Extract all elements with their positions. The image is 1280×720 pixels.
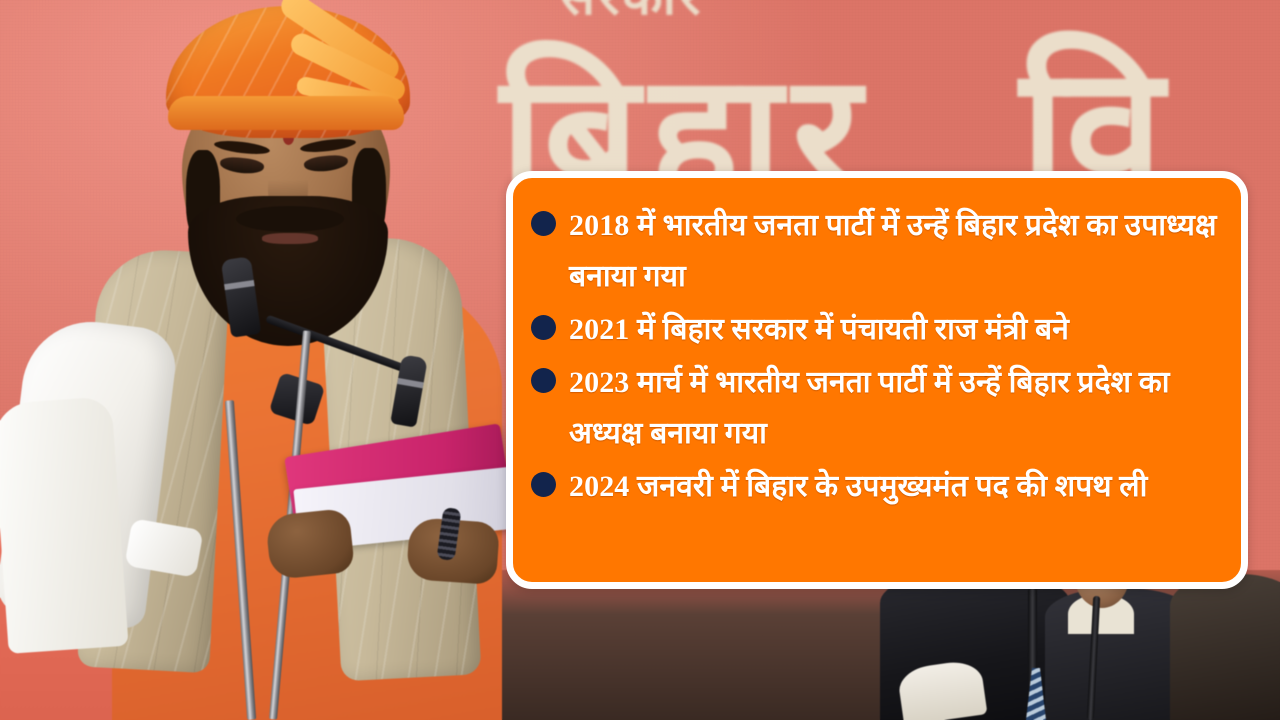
bullet-dot-icon [531, 211, 556, 236]
bullet-text-2021: 2021 में बिहार सरकार में पंचायती राज मंत… [569, 304, 1069, 355]
infographic-screenshot: सरकार बिहार वि [0, 0, 1280, 720]
bullet-text-2024: 2024 जनवरी में बिहार के उपमुख्यमंत पद की… [569, 461, 1148, 512]
list-item: 2018 में भारतीय जनता पार्टी में उन्हें ब… [531, 200, 1225, 302]
main-subject-figure [0, 0, 560, 720]
bullet-dot-icon [531, 315, 556, 340]
subject-hand-left [265, 508, 355, 580]
microphone-ring-2 [397, 378, 424, 388]
microphone-ring-1 [224, 280, 255, 290]
subject-lower-lip [262, 233, 318, 244]
bullet-points-panel: 2018 में भारतीय जनता पार्टी में उन्हें ब… [506, 171, 1248, 589]
bullet-list: 2018 में भारतीय जनता पार्टी में उन्हें ब… [513, 178, 1241, 512]
bullet-text-2023: 2023 मार्च में भारतीय जनता पार्टी में उन… [569, 357, 1225, 459]
banner-word-top: सरकार [560, 0, 704, 21]
bullet-text-2018: 2018 में भारतीय जनता पार्टी में उन्हें ब… [569, 200, 1225, 302]
list-item: 2024 जनवरी में बिहार के उपमुख्यमंत पद की… [531, 461, 1225, 512]
bullet-dot-icon [531, 368, 556, 393]
subject-moustache [236, 206, 344, 232]
background-person-suit-3 [1170, 574, 1280, 720]
list-item: 2023 मार्च में भारतीय जनता पार्टी में उन… [531, 357, 1225, 459]
bullet-dot-icon [531, 472, 556, 497]
turban-lower-band [168, 96, 404, 130]
subject-white-sleeve-lower [0, 396, 129, 654]
list-item: 2021 में बिहार सरकार में पंचायती राज मंत… [531, 304, 1225, 355]
